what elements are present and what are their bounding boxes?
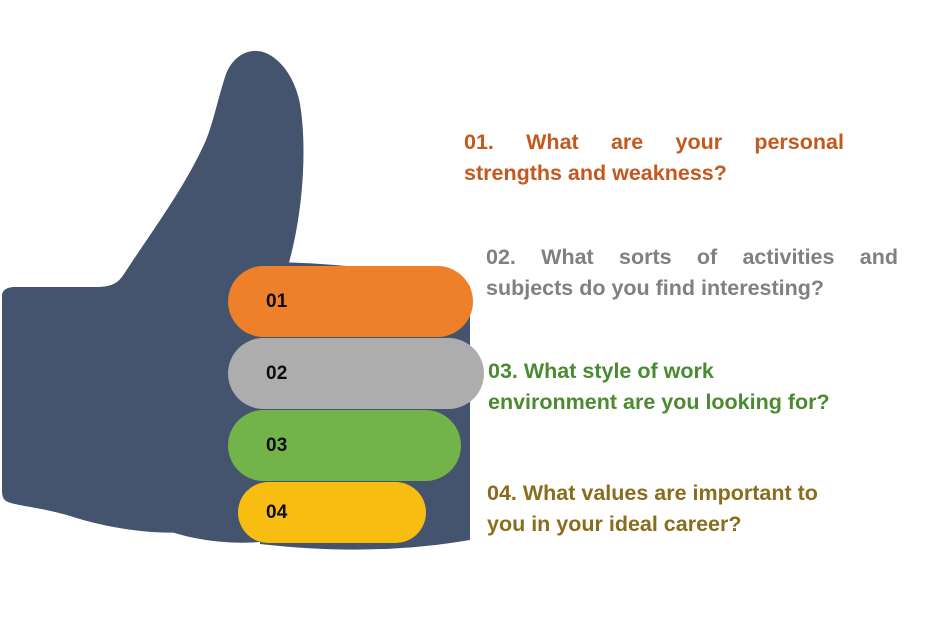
question-02-line-2: subjects do you find interesting? (486, 273, 898, 304)
pill-01[interactable]: 01 (228, 266, 473, 337)
pill-02-label: 02 (266, 364, 288, 383)
question-02-line-1: 02. What sorts of activities and (486, 242, 898, 273)
pill-04-label: 04 (266, 503, 288, 522)
question-01-word: are (611, 127, 643, 158)
pill-03[interactable]: 03 (228, 410, 461, 481)
question-block-03: 03. What style of work environment are y… (488, 356, 913, 417)
question-01-word: 01. (464, 127, 494, 158)
question-01-word: What (526, 127, 579, 158)
question-01-word: personal (754, 127, 844, 158)
question-block-01: 01. What are your personal strengths and… (464, 127, 844, 188)
question-04-line-1: 04. What values are important to (487, 478, 917, 509)
question-01-line-2: strengths and weakness? (464, 158, 844, 189)
pill-03-label: 03 (266, 436, 288, 455)
question-02-word: What (541, 242, 594, 273)
pill-02[interactable]: 02 (228, 338, 484, 409)
question-02-word: sorts (619, 242, 672, 273)
question-block-02: 02. What sorts of activities and subject… (486, 242, 898, 303)
question-04-line-2: you in your ideal career? (487, 509, 917, 540)
question-03-line-1: 03. What style of work (488, 356, 913, 387)
question-01-word: your (675, 127, 722, 158)
question-02-word: 02. (486, 242, 516, 273)
pill-04[interactable]: 04 (238, 482, 426, 543)
question-02-word: of (697, 242, 717, 273)
question-01-line-1: 01. What are your personal (464, 127, 844, 158)
question-02-word: and (860, 242, 898, 273)
question-03-line-2: environment are you looking for? (488, 387, 913, 418)
slide-canvas: 01 02 03 04 01. What are your personal s… (0, 0, 930, 620)
question-block-04: 04. What values are important to you in … (487, 478, 917, 539)
question-02-word: activities (742, 242, 834, 273)
pill-01-label: 01 (266, 292, 288, 311)
